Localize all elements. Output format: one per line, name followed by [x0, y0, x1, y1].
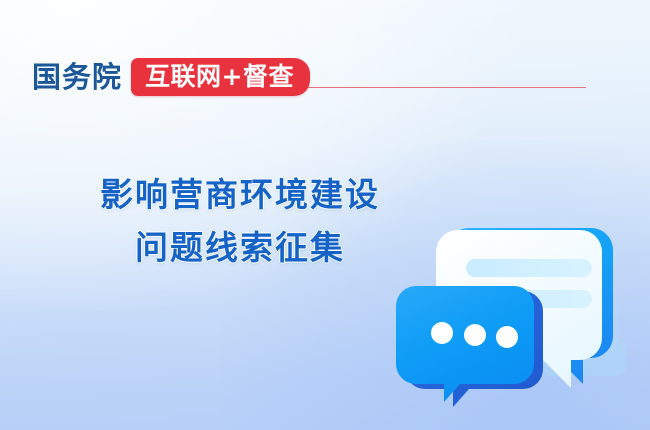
typing-dot-3 [496, 326, 518, 348]
big-bubble-bar-1 [466, 259, 592, 277]
typing-dot-2 [464, 324, 486, 346]
internet-supervision-badge: 互联网+督查 [131, 58, 310, 96]
header: 国务院 互联网+督查 [32, 56, 618, 98]
banner-root: 国务院 互联网+督查 影响营商环境建设 问题线索征集 [0, 0, 650, 430]
badge-label: 互联网+督查 [145, 64, 294, 89]
chat-bubbles-illustration [392, 198, 650, 412]
header-divider-line [306, 87, 586, 88]
gov-council-label: 国务院 [32, 63, 122, 92]
typing-dot-1 [431, 322, 453, 344]
